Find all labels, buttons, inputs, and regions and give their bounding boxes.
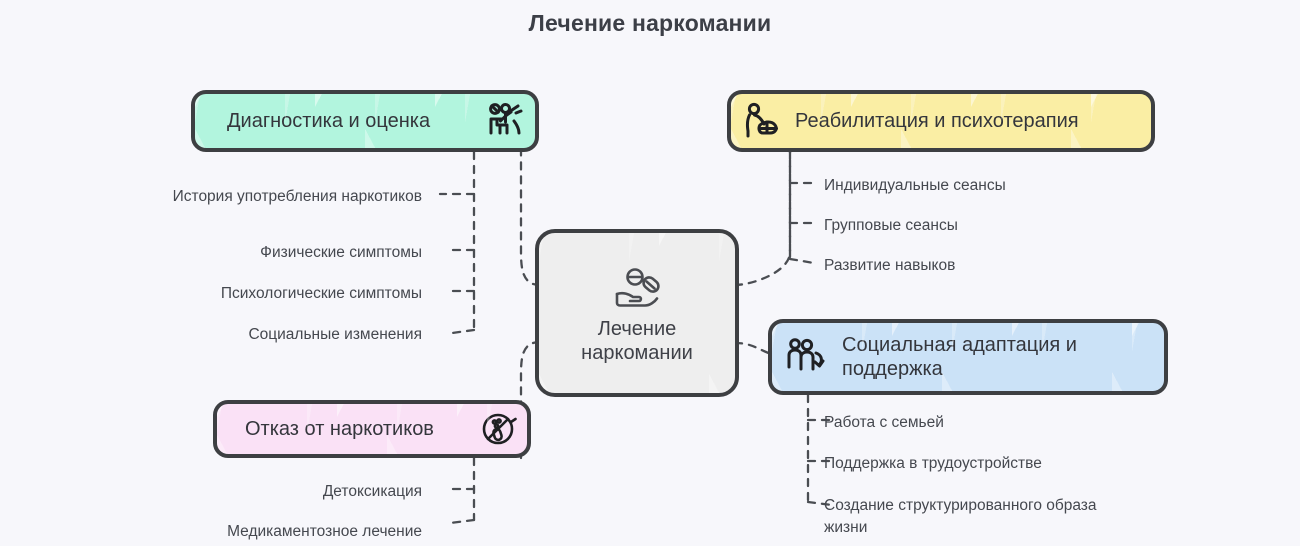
mindmap-canvas: Лечение наркомании (0, 0, 1300, 546)
therapy-session-icon (741, 100, 783, 142)
leaf-social-0: Работа с семьей (824, 412, 1144, 434)
wire-diagnostics-item-3 (452, 330, 474, 333)
no-drugs-icon (479, 409, 519, 449)
hand-holding-pills-icon (605, 263, 669, 311)
leaf-refusal-1: Медикаментозное лечение (110, 521, 422, 543)
branch-label-diagnostics: Диагностика и оценка (227, 109, 430, 133)
branch-node-social-adaptation[interactable]: Социальная адаптация и поддержка (768, 319, 1168, 395)
central-node[interactable]: Лечение наркомании (535, 229, 739, 397)
leaf-diagnostics-0: История употребления наркотиков (90, 186, 422, 208)
wire-refusal-item-1 (450, 520, 474, 523)
page-title: Лечение наркомании (0, 10, 1300, 37)
people-support-icon (784, 335, 830, 379)
leaf-rehabilitation-2: Развитие навыков (824, 255, 1124, 277)
central-node-label: Лечение наркомании (581, 317, 693, 366)
wire-center-rehabilitation (735, 152, 790, 285)
leaf-diagnostics-2: Психологические симптомы (120, 283, 422, 305)
leaf-diagnostics-1: Физические симптомы (120, 242, 422, 264)
branch-node-drug-refusal[interactable]: Отказ от наркотиков (213, 400, 531, 458)
leaf-social-1: Поддержка в трудоустройстве (824, 453, 1144, 475)
leaf-rehabilitation-0: Индивидуальные сеансы (824, 175, 1124, 197)
leaf-rehabilitation-1: Групповые сеансы (824, 215, 1124, 237)
branch-label-rehabilitation: Реабилитация и психотерапия (795, 109, 1079, 133)
branch-node-rehabilitation[interactable]: Реабилитация и психотерапия (727, 90, 1155, 152)
branch-label-drug-refusal: Отказ от наркотиков (245, 417, 434, 441)
node-texture (539, 233, 735, 393)
wire-rehab-item-2 (790, 259, 814, 263)
leaf-diagnostics-3: Социальные изменения (120, 324, 422, 346)
branch-label-social-adaptation: Социальная адаптация и поддержка (842, 333, 1077, 382)
leaf-refusal-0: Детоксикация (120, 481, 422, 503)
patient-assessment-icon (483, 99, 527, 143)
leaf-social-2: Создание структурированного образа жизни (824, 495, 1136, 539)
branch-node-diagnostics[interactable]: Диагностика и оценка (191, 90, 539, 152)
